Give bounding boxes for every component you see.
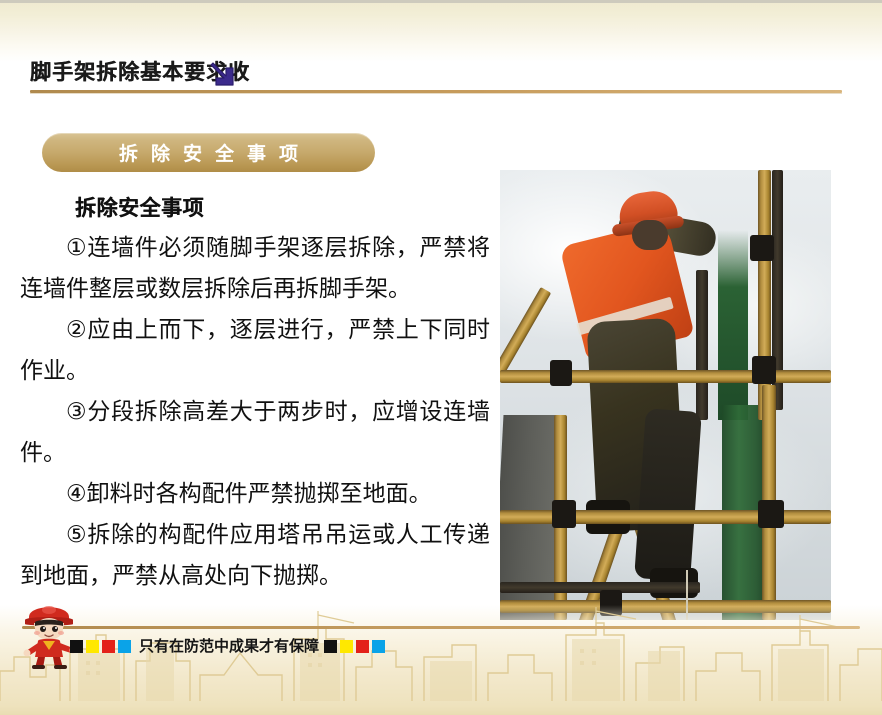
poster-page: 脚手架拆除基本要求收 拆除安全事项 拆除安全事项 ①连墙件必须随脚手架逐层拆除，… [0,0,882,715]
header-divider-shadow [30,93,842,94]
photo-scaffold-clamp [752,356,776,384]
photo-scaffold-clamp [552,500,576,528]
color-swatch-red [102,640,115,653]
city-skyline-icon [0,605,882,715]
photo-scaffold-clamp [758,500,784,528]
body-paragraph: ②应由上而下，逐层进行，严禁上下同时作业。 [20,310,490,392]
color-swatch-yellow [340,640,353,653]
body-heading: 拆除安全事项 [75,194,490,222]
photo-scaffold-clamp [550,360,572,386]
body-paragraph: ①连墙件必须随脚手架逐层拆除，严禁将连墙件整层或数层拆除后再拆脚手架。 [20,228,490,310]
top-decorative-band [0,0,882,62]
footer-slogan: 只有在防范中成果才有保障 [134,637,324,655]
color-swatch-blue [118,640,131,653]
color-swatch-yellow [86,640,99,653]
section-banner-label: 拆除安全事项 [42,133,375,172]
photo-safety-net-upper [718,230,748,420]
footer-slogan-row: 只有在防范中成果才有保障 [70,635,385,657]
photo-pole-vertical-dark [696,270,708,420]
section-banner: 拆除安全事项 [42,133,375,172]
color-swatch-black [324,640,337,653]
safety-mascot-icon [16,595,82,669]
color-swatch-red [356,640,369,653]
footer-divider [22,626,860,629]
photo-worker-leg [634,408,702,581]
header-row: 脚手架拆除基本要求收 [30,58,850,92]
body-paragraph: ④卸料时各构配件严禁抛掷至地面。 [20,474,490,515]
body-paragraph: ⑤拆除的构配件应用塔吊吊运或人工传递到地面，严禁从高处向下抛掷。 [20,515,490,597]
photo-worker-head [632,220,668,250]
top-hairline [0,0,882,3]
body-paragraph: ③分段拆除高差大于两步时，应增设连墙件。 [20,392,490,474]
arrow-down-right-icon [210,60,236,88]
scaffolding-worker-photo [500,170,831,620]
color-swatch-blue [372,640,385,653]
body-text-column: 拆除安全事项 ①连墙件必须随脚手架逐层拆除，严禁将连墙件整层或数层拆除后再拆脚手… [20,194,490,597]
color-swatch-black [70,640,83,653]
photo-scaffold-clamp [750,235,774,261]
